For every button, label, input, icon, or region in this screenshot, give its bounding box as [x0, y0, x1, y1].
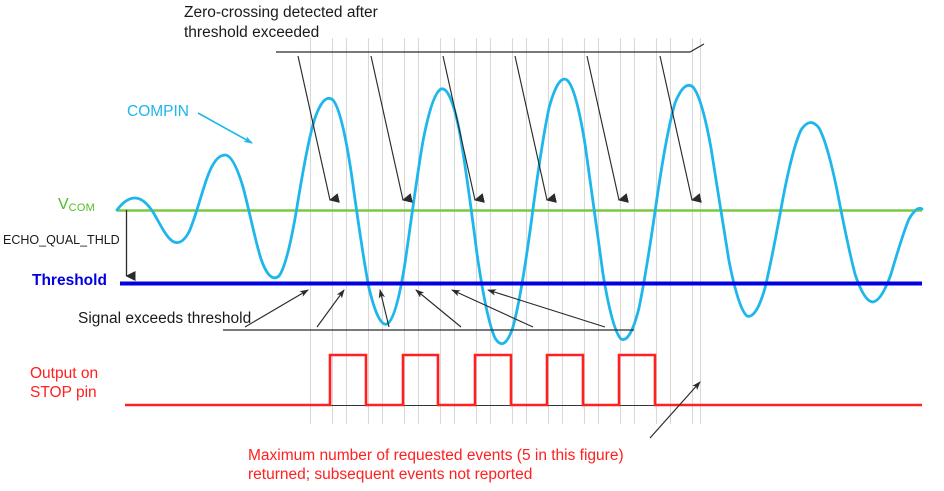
diagram-canvas — [0, 0, 944, 491]
compin-label: COMPIN — [127, 103, 189, 121]
zero-crossing-annotation-line2: threshold exceeded — [184, 24, 319, 42]
vcom-label-subscript: COM — [69, 202, 95, 214]
output-stop-pin-label-line2: STOP pin — [30, 384, 97, 402]
vcom-label-main: V — [58, 196, 69, 213]
gridlines — [311, 38, 701, 424]
threshold-label: Threshold — [32, 272, 107, 290]
signal-exceeds-leader-group — [223, 290, 634, 330]
echo-qual-thld-label: ECHO_QUAL_THLD — [3, 233, 120, 248]
zero-crossing-annotation-line1: Zero-crossing detected after — [184, 4, 378, 22]
output-stop-pin-waveform — [125, 355, 922, 405]
max-events-caption-line1: Maximum number of requested events (5 in… — [248, 447, 624, 465]
compin-pointer-arrow — [198, 113, 252, 143]
output-stop-pin-label-line1: Output on — [30, 365, 98, 383]
max-events-caption-line2: returned; subsequent events not reported — [248, 466, 532, 484]
vcom-label: VCOM — [58, 196, 95, 215]
timing-diagram-figure: Zero-crossing detected after threshold e… — [0, 0, 944, 491]
signal-exceeds-threshold-annotation: Signal exceeds threshold — [78, 310, 251, 328]
